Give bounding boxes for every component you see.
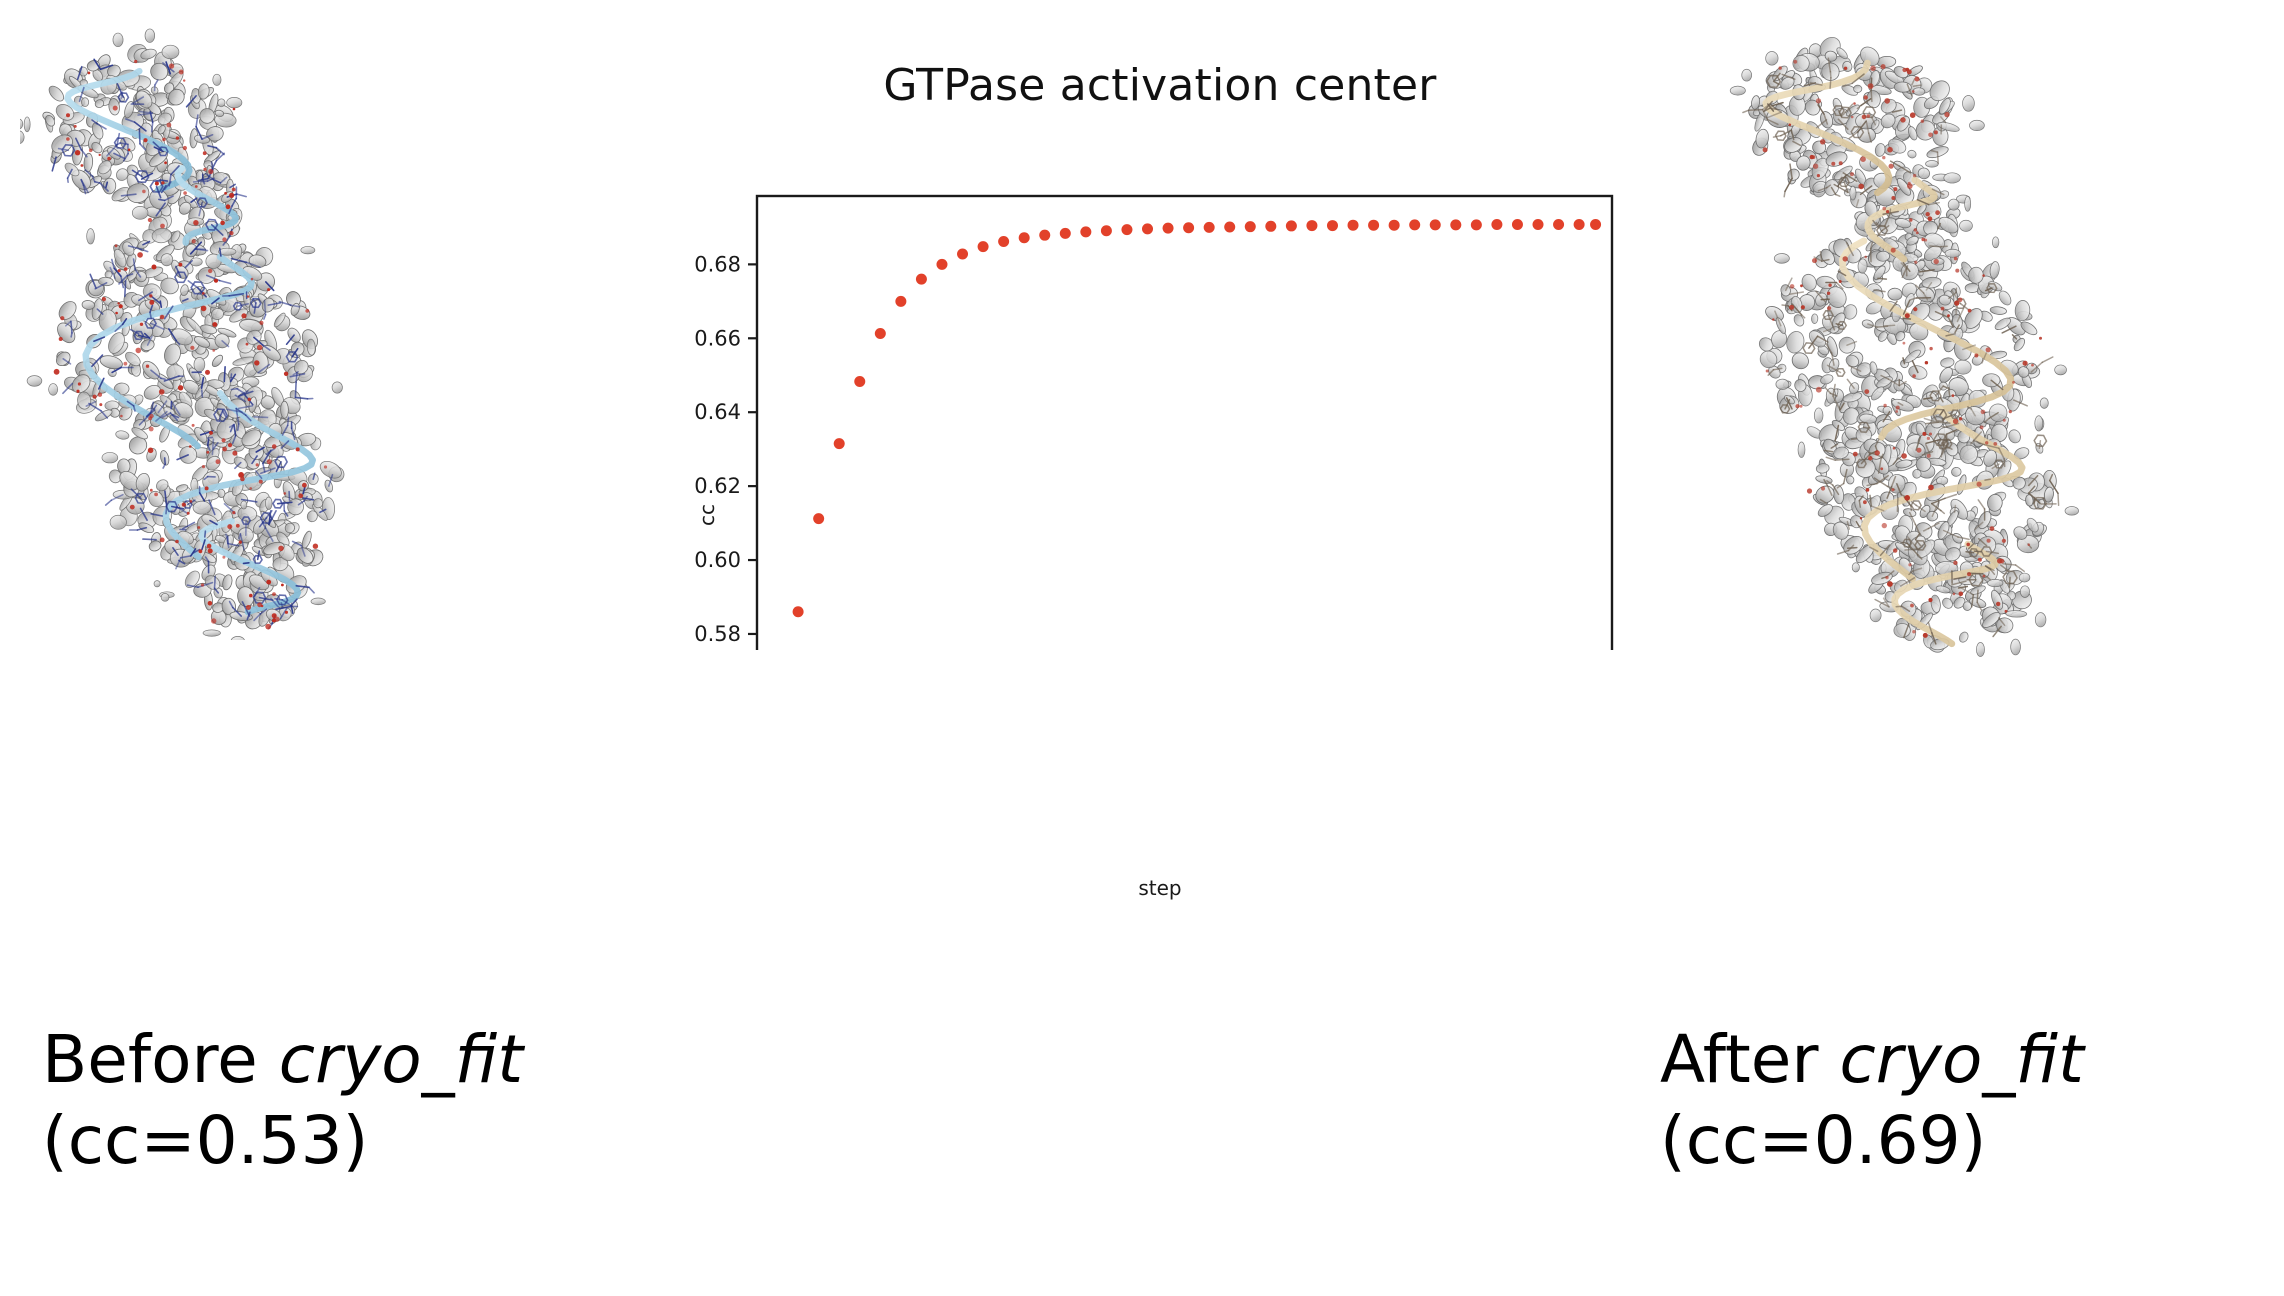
svg-text:0.66: 0.66 [694, 326, 741, 350]
caption-before-lead: Before [42, 1021, 279, 1098]
caption-before: Before cryo_fit (cc=0.53) [42, 1020, 742, 1181]
x-axis-label: step [640, 876, 1680, 900]
caption-before-line1: Before cryo_fit [42, 1020, 742, 1101]
svg-text:0.68: 0.68 [694, 252, 741, 276]
svg-text:0.64: 0.64 [694, 400, 741, 424]
slide-canvas: GTPase activation center 025000500007500… [0, 0, 2284, 1296]
caption-before-emphasis: cryo_fit [279, 1021, 523, 1098]
svg-text:0.60: 0.60 [694, 548, 741, 572]
y-axis-label: cc [695, 504, 719, 526]
caption-after-line1: After cryo_fit [1660, 1020, 2284, 1101]
molecule-render-before [20, 20, 420, 640]
plot-area: 0250005000075000100000125000150000175000… [640, 30, 1680, 650]
svg-text:0.58: 0.58 [694, 622, 741, 646]
caption-after-line2: (cc=0.69) [1660, 1101, 2284, 1182]
caption-after: After cryo_fit (cc=0.69) [1660, 1020, 2284, 1181]
caption-after-lead: After [1660, 1021, 1839, 1098]
caption-after-emphasis: cryo_fit [1839, 1021, 2083, 1098]
svg-text:0.62: 0.62 [694, 474, 741, 498]
molecule-render-after [1700, 10, 2120, 660]
caption-before-line2: (cc=0.53) [42, 1101, 742, 1182]
cc-vs-step-chart: GTPase activation center 025000500007500… [640, 30, 1680, 650]
